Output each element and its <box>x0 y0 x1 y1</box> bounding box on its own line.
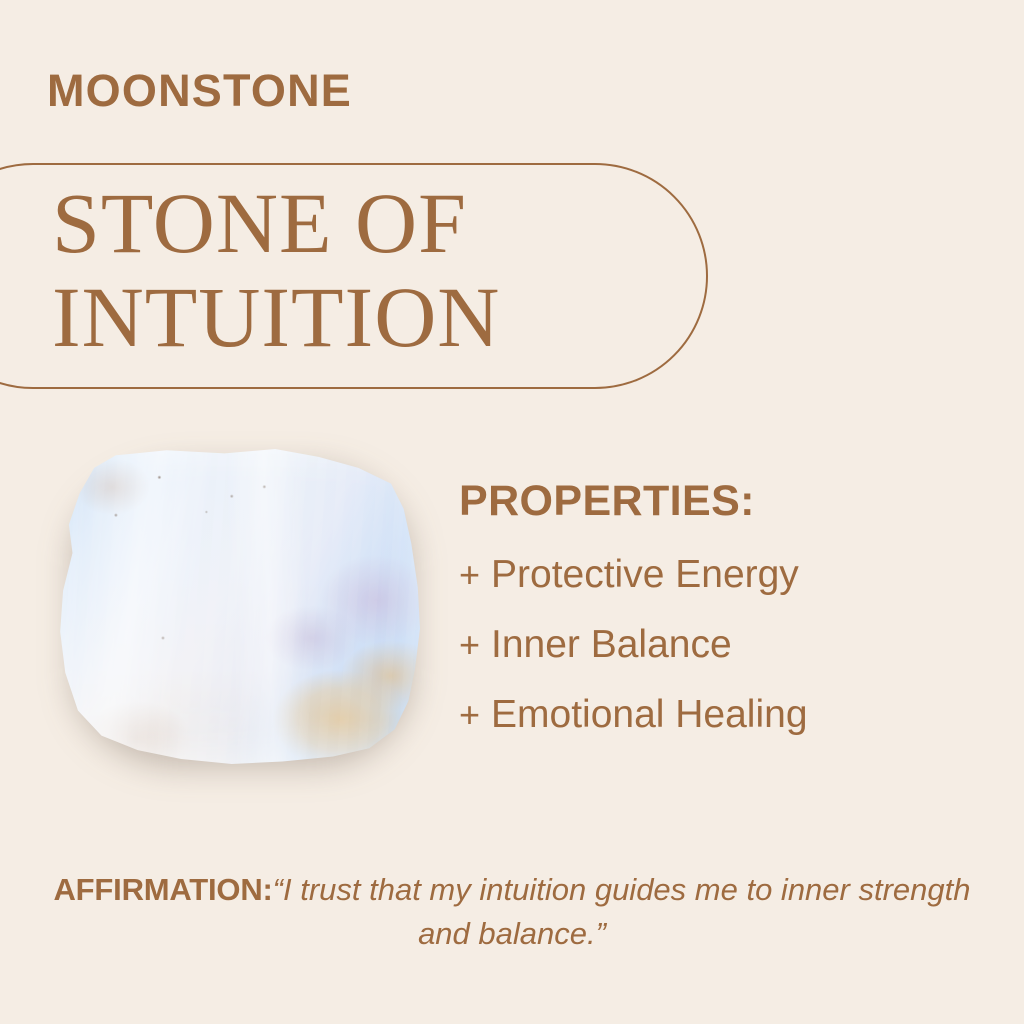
page-title: STONE OF INTUITION <box>52 176 672 364</box>
page-title-line-1: STONE OF <box>52 176 672 270</box>
moonstone-inclusions <box>58 449 420 764</box>
properties-section: PROPERTIES: + Protective Energy + Inner … <box>459 480 979 765</box>
affirmation-label: AFFIRMATION: <box>54 872 273 907</box>
moonstone-body <box>58 449 420 764</box>
list-item: + Protective Energy <box>459 555 979 625</box>
properties-heading: PROPERTIES: <box>459 480 979 523</box>
plus-icon: + <box>459 557 491 593</box>
plus-icon: + <box>459 697 491 733</box>
list-item: + Emotional Healing <box>459 695 979 765</box>
plus-icon: + <box>459 627 491 663</box>
moonstone-info-card: MOONSTONE STONE OF INTUITION PROPERTIES:… <box>0 0 1024 1024</box>
property-label: Protective Energy <box>491 555 799 594</box>
moonstone-image <box>52 443 422 773</box>
property-label: Inner Balance <box>491 625 732 664</box>
page-title-line-2: INTUITION <box>52 270 672 364</box>
list-item: + Inner Balance <box>459 625 979 695</box>
affirmation-block: AFFIRMATION:“I trust that my intuition g… <box>44 868 980 956</box>
eyebrow-heading: MOONSTONE <box>47 68 352 113</box>
affirmation-quote: “I trust that my intuition guides me to … <box>273 872 971 951</box>
property-label: Emotional Healing <box>491 695 808 734</box>
